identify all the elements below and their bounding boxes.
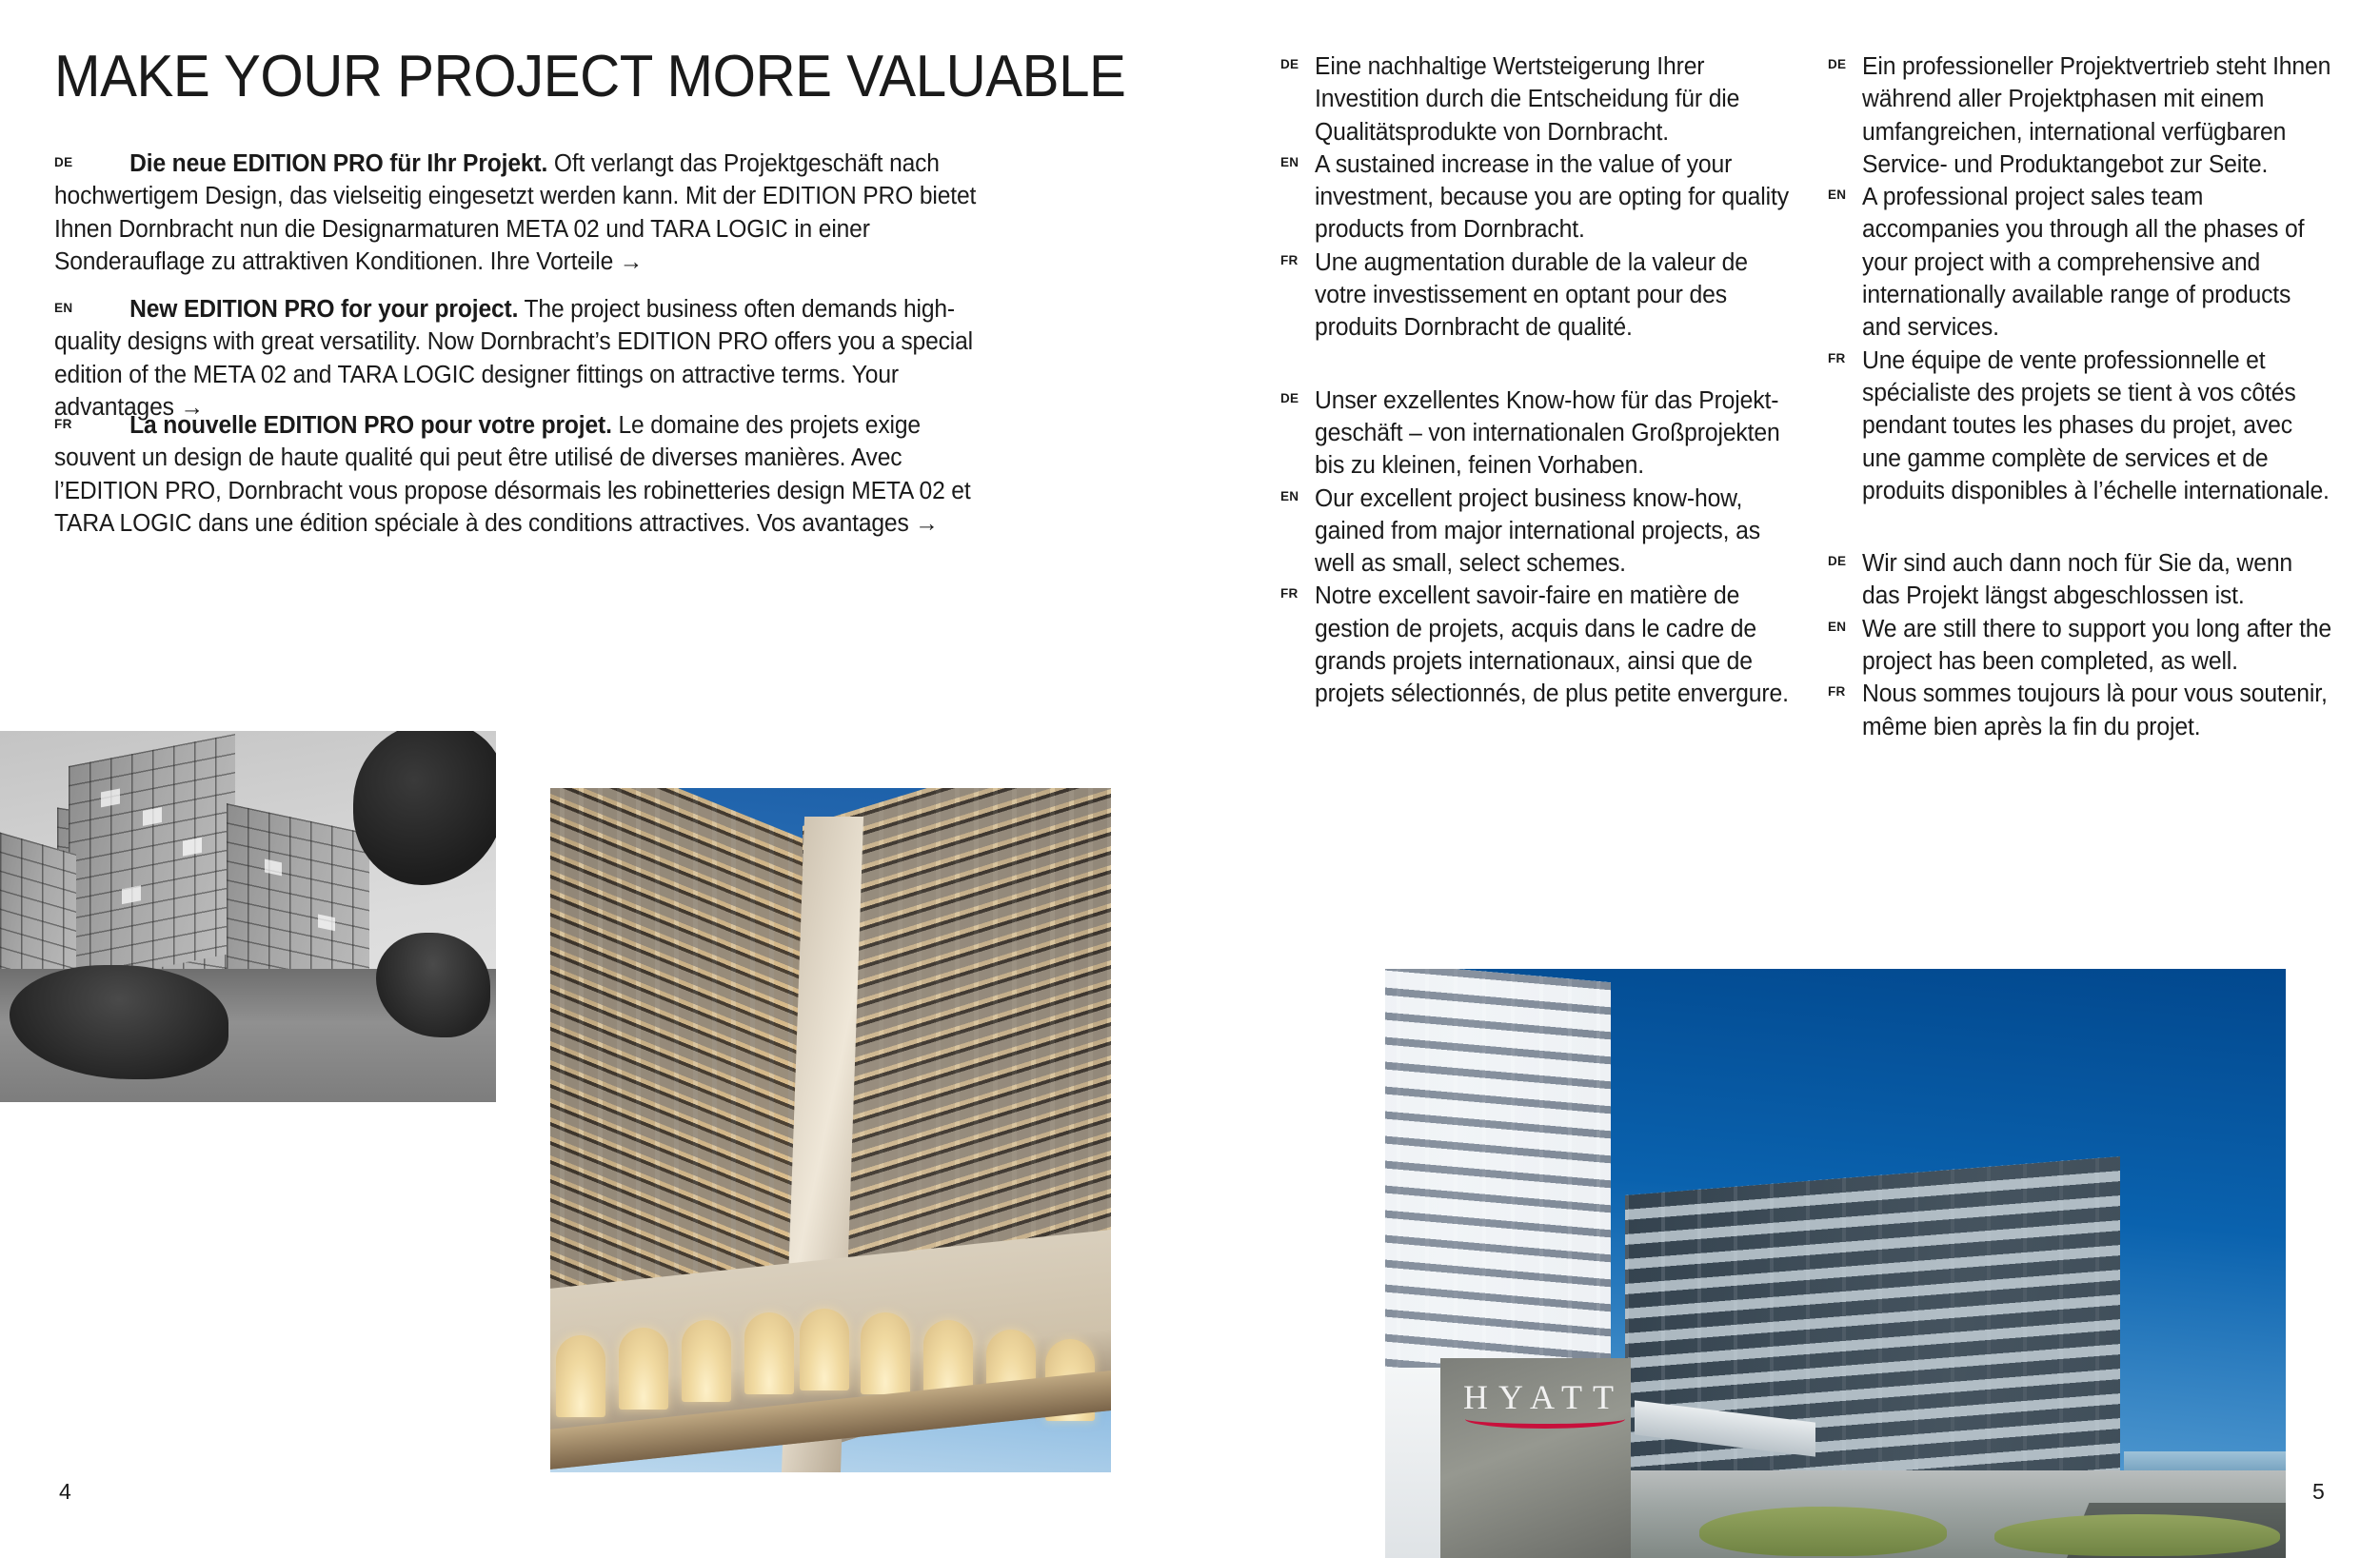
benefits-column-right: DE Ein professioneller Projektvertrieb s… bbox=[1828, 50, 2347, 783]
benefit-text: Our excellent project business know-how,… bbox=[1315, 483, 1790, 581]
lit-arch bbox=[861, 1312, 910, 1394]
benefit-line: FR Nous sommes toujours là pour vous sou… bbox=[1828, 678, 2347, 743]
intro-lead-fr: La nouvelle EDITION PRO pour votre proje… bbox=[129, 412, 612, 439]
magazine-spread: MAKE YOUR PROJECT MORE VALUABLE DE Die n… bbox=[0, 0, 2380, 1558]
language-tag-fr: FR bbox=[1828, 351, 1846, 365]
lawn-island bbox=[1699, 1507, 1947, 1556]
building-tower-front bbox=[69, 734, 235, 985]
benefits-column-middle: DE Eine nachhaltige Wertsteigerung Ihrer… bbox=[1280, 50, 1804, 751]
language-tag-en: EN bbox=[1828, 187, 1846, 202]
black-and-white-glass-office-building-photo bbox=[0, 731, 496, 1102]
language-tag-fr: FR bbox=[54, 415, 72, 433]
lit-arch bbox=[682, 1320, 731, 1402]
language-tag-de: DE bbox=[1828, 554, 1846, 568]
tree bbox=[353, 731, 496, 885]
benefit-text: Nous sommes toujours là pour vous souten… bbox=[1862, 678, 2332, 743]
lit-arch bbox=[619, 1328, 668, 1410]
benefit-text: Notre excellent savoir-faire en matière … bbox=[1315, 580, 1790, 710]
window-grid bbox=[69, 734, 235, 985]
benefit-line: FR Une augmentation durable de la valeur… bbox=[1280, 247, 1804, 345]
page-title: MAKE YOUR PROJECT MORE VALUABLE bbox=[54, 46, 1125, 108]
intro-lead-en: New EDITION PRO for your project. bbox=[129, 296, 518, 323]
language-tag-en: EN bbox=[54, 299, 73, 317]
lit-arch bbox=[800, 1309, 849, 1390]
benefit-group: DE Ein professioneller Projektvertrieb s… bbox=[1828, 50, 2347, 507]
intro-lead-de: Die neue EDITION PRO für Ihr Projekt. bbox=[129, 150, 547, 177]
language-tag-fr: FR bbox=[1280, 253, 1299, 267]
benefit-group: DE Wir sind auch dann noch für Sie da, w… bbox=[1828, 547, 2347, 743]
benefit-line: FR Notre excellent savoir-faire en matiè… bbox=[1280, 580, 1804, 710]
benefit-line: DE Wir sind auch dann noch für Sie da, w… bbox=[1828, 547, 2347, 613]
benefit-text: A sustained increase in the value of you… bbox=[1315, 148, 1790, 247]
benefit-line: EN Our excellent project business know-h… bbox=[1280, 483, 1804, 581]
benefit-line: FR Une équipe de vente professionnelle e… bbox=[1828, 345, 2347, 507]
benefit-line: EN A professional project sales team acc… bbox=[1828, 181, 2347, 344]
lawn-strip bbox=[1994, 1514, 2280, 1556]
language-tag-en: EN bbox=[1280, 155, 1299, 169]
intro-paragraph-fr: FR La nouvelle EDITION PRO pour votre pr… bbox=[54, 409, 1016, 540]
benefit-text: Une augmentation durable de la valeur de… bbox=[1315, 247, 1790, 345]
benefit-line: EN A sustained increase in the value of … bbox=[1280, 148, 1804, 247]
lit-arch bbox=[744, 1312, 794, 1394]
benefit-text: A professional project sales team accomp… bbox=[1862, 181, 2332, 344]
language-tag-de: DE bbox=[54, 153, 73, 171]
benefit-text: Eine nachhaltige Wertsteigerung Ihrer In… bbox=[1315, 50, 1790, 148]
benefit-group: DE Unser exzellentes Know-how für das Pr… bbox=[1280, 385, 1804, 711]
hyatt-hotel-exterior-photo: HYATT bbox=[1385, 969, 2286, 1558]
benefit-line: EN We are still there to support you lon… bbox=[1828, 613, 2347, 679]
intro-paragraph-de: DE Die neue EDITION PRO für Ihr Projekt.… bbox=[54, 148, 1016, 278]
benefit-group: DE Eine nachhaltige Wertsteigerung Ihrer… bbox=[1280, 50, 1804, 345]
language-tag-fr: FR bbox=[1828, 684, 1846, 699]
benefit-text: We are still there to support you long a… bbox=[1862, 613, 2332, 679]
page-number-left: 4 bbox=[59, 1479, 71, 1505]
benefit-text: Wir sind auch dann noch für Sie da, wenn… bbox=[1862, 547, 2332, 613]
language-tag-de: DE bbox=[1828, 57, 1846, 71]
benefit-text: Unser exzellentes Know-how für das Proje… bbox=[1315, 385, 1790, 483]
language-tag-de: DE bbox=[1280, 57, 1299, 71]
benefit-line: DE Eine nachhaltige Wertsteigerung Ihrer… bbox=[1280, 50, 1804, 148]
language-tag-de: DE bbox=[1280, 391, 1299, 405]
benefit-text: Ein professioneller Projektvertrieb steh… bbox=[1862, 50, 2332, 181]
language-tag-en: EN bbox=[1828, 620, 1846, 634]
benefit-text: Une équipe de vente professionnelle et s… bbox=[1862, 345, 2332, 507]
benefit-line: DE Ein professioneller Projektvertrieb s… bbox=[1828, 50, 2347, 181]
lit-arch bbox=[556, 1335, 605, 1417]
benefit-line: DE Unser exzellentes Know-how für das Pr… bbox=[1280, 385, 1804, 483]
intro-paragraph-en: EN New EDITION PRO for your project. The… bbox=[54, 293, 1016, 424]
illuminated-high-rise-tower-at-dusk-photo bbox=[550, 788, 1111, 1472]
language-tag-en: EN bbox=[1280, 489, 1299, 503]
language-tag-fr: FR bbox=[1280, 586, 1299, 601]
hyatt-red-swoosh-icon bbox=[1465, 1410, 1625, 1429]
page-number-right: 5 bbox=[2312, 1479, 2325, 1505]
